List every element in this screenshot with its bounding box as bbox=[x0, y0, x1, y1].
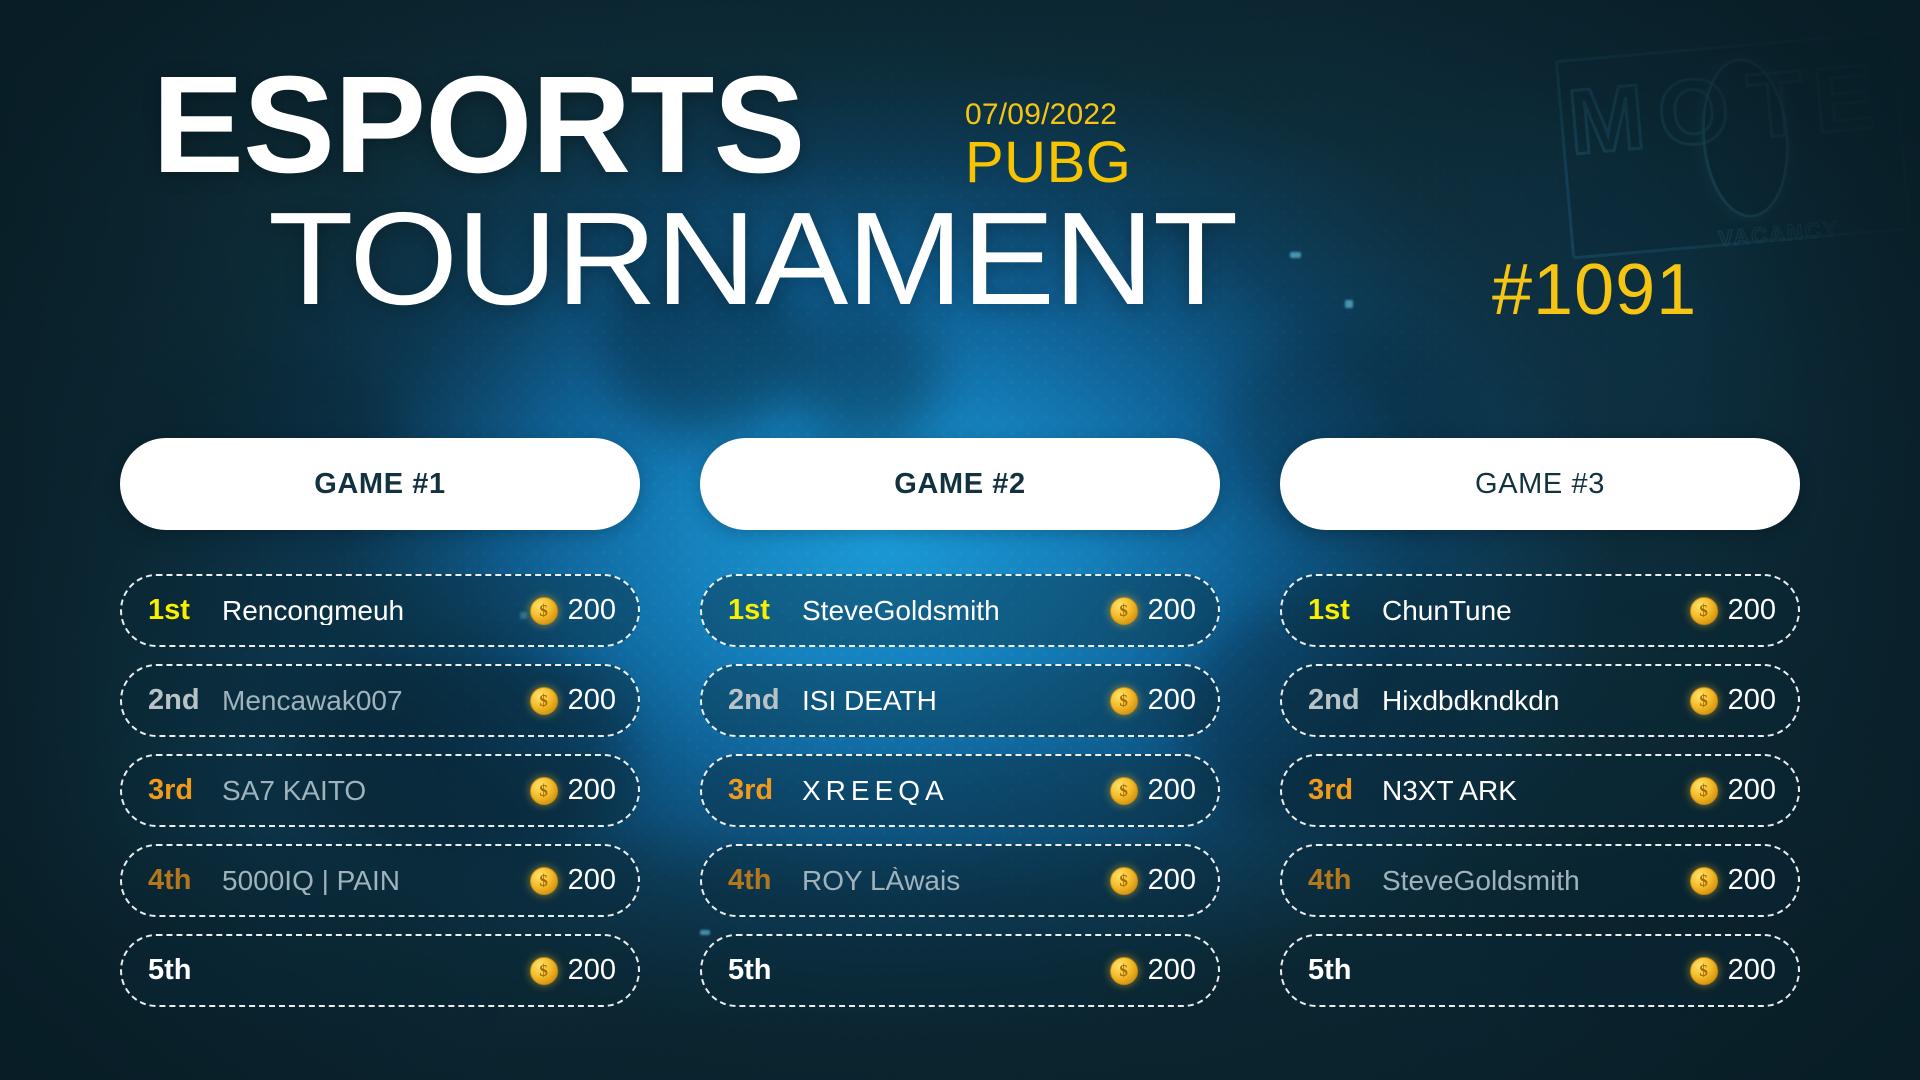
coin-icon: $ bbox=[1690, 777, 1718, 805]
leaderboard-column-3: GAME #31stChunTune$2002ndHixdbdkndkdn$20… bbox=[1280, 438, 1800, 1007]
leaderboard-rows: 1stRencongmeuh$2002ndMencawak007$2003rdS… bbox=[120, 574, 640, 1007]
prize-value: 200 bbox=[1728, 956, 1776, 985]
poster-header: ESPORTS TOURNAMENT 07/09/2022 PUBG #1091 bbox=[0, 0, 1920, 400]
coin-icon: $ bbox=[530, 597, 558, 625]
rank-label: 1st bbox=[1308, 596, 1370, 625]
prize-amount-group: $200 bbox=[1690, 776, 1776, 805]
leaderboard-row[interactable]: 1stRencongmeuh$200 bbox=[120, 574, 640, 647]
prize-amount-group: $200 bbox=[530, 776, 616, 805]
leaderboard-rows: 1stChunTune$2002ndHixdbdkndkdn$2003rdN3X… bbox=[1280, 574, 1800, 1007]
rank-label: 2nd bbox=[148, 686, 210, 715]
rank-label: 4th bbox=[728, 866, 790, 895]
leaderboard-row[interactable]: 5th$200 bbox=[1280, 934, 1800, 1007]
leaderboard-row[interactable]: 2ndISI DEATH$200 bbox=[700, 664, 1220, 737]
coin-icon: $ bbox=[1110, 597, 1138, 625]
leaderboard-column-2: GAME #21stSteveGoldsmith$2002ndISI DEATH… bbox=[700, 438, 1220, 1007]
player-name: N3XT ARK bbox=[1370, 777, 1690, 805]
prize-value: 200 bbox=[1728, 776, 1776, 805]
player-name: XREEQA bbox=[790, 777, 1110, 805]
prize-amount-group: $200 bbox=[1110, 686, 1196, 715]
prize-amount-group: $200 bbox=[1690, 956, 1776, 985]
prize-amount-group: $200 bbox=[530, 956, 616, 985]
rank-label: 3rd bbox=[148, 776, 210, 805]
coin-icon: $ bbox=[530, 867, 558, 895]
leaderboard-row[interactable]: 5th$200 bbox=[120, 934, 640, 1007]
coin-icon: $ bbox=[530, 777, 558, 805]
prize-amount-group: $200 bbox=[1110, 866, 1196, 895]
leaderboard-columns: GAME #11stRencongmeuh$2002ndMencawak007$… bbox=[0, 438, 1920, 1007]
rank-label: 2nd bbox=[1308, 686, 1370, 715]
leaderboard-row[interactable]: 5th$200 bbox=[700, 934, 1220, 1007]
leaderboard-row[interactable]: 4thROY LÀwais$200 bbox=[700, 844, 1220, 917]
prize-amount-group: $200 bbox=[1690, 686, 1776, 715]
prize-amount-group: $200 bbox=[1690, 596, 1776, 625]
leaderboard-row[interactable]: 1stSteveGoldsmith$200 bbox=[700, 574, 1220, 647]
coin-icon: $ bbox=[1110, 777, 1138, 805]
leaderboard-row[interactable]: 4thSteveGoldsmith$200 bbox=[1280, 844, 1800, 917]
prize-value: 200 bbox=[1148, 956, 1196, 985]
player-name: SteveGoldsmith bbox=[1370, 867, 1690, 895]
prize-value: 200 bbox=[568, 596, 616, 625]
coin-icon: $ bbox=[530, 957, 558, 985]
prize-value: 200 bbox=[568, 776, 616, 805]
player-name: 5000IQ | PAIN bbox=[210, 867, 530, 895]
page-title-primary: ESPORTS bbox=[152, 56, 804, 194]
prize-value: 200 bbox=[1728, 596, 1776, 625]
leaderboard-row[interactable]: 2ndHixdbdkndkdn$200 bbox=[1280, 664, 1800, 737]
prize-value: 200 bbox=[1148, 596, 1196, 625]
prize-amount-group: $200 bbox=[1690, 866, 1776, 895]
leaderboard-row[interactable]: 4th5000IQ | PAIN$200 bbox=[120, 844, 640, 917]
coin-icon: $ bbox=[1690, 597, 1718, 625]
rank-label: 2nd bbox=[728, 686, 790, 715]
leaderboard-rows: 1stSteveGoldsmith$2002ndISI DEATH$2003rd… bbox=[700, 574, 1220, 1007]
coin-icon: $ bbox=[1690, 687, 1718, 715]
prize-amount-group: $200 bbox=[530, 596, 616, 625]
coin-icon: $ bbox=[1690, 867, 1718, 895]
player-name: ROY LÀwais bbox=[790, 867, 1110, 895]
rank-label: 3rd bbox=[728, 776, 790, 805]
leaderboard-row[interactable]: 3rdSA7 KAITO$200 bbox=[120, 754, 640, 827]
prize-value: 200 bbox=[1148, 866, 1196, 895]
tournament-id-badge: #1091 bbox=[1492, 254, 1697, 326]
prize-value: 200 bbox=[568, 866, 616, 895]
player-name: SteveGoldsmith bbox=[790, 597, 1110, 625]
leaderboard-row[interactable]: 3rdN3XT ARK$200 bbox=[1280, 754, 1800, 827]
prize-value: 200 bbox=[568, 686, 616, 715]
event-date: 07/09/2022 bbox=[965, 100, 1131, 130]
rank-label: 5th bbox=[148, 956, 210, 985]
coin-icon: $ bbox=[1110, 957, 1138, 985]
prize-value: 200 bbox=[1148, 776, 1196, 805]
prize-value: 200 bbox=[568, 956, 616, 985]
rank-label: 5th bbox=[728, 956, 790, 985]
coin-icon: $ bbox=[1110, 687, 1138, 715]
coin-icon: $ bbox=[1690, 957, 1718, 985]
leaderboard-row[interactable]: 3rdXREEQA$200 bbox=[700, 754, 1220, 827]
rank-label: 1st bbox=[728, 596, 790, 625]
event-meta: 07/09/2022 PUBG bbox=[965, 100, 1131, 192]
prize-value: 200 bbox=[1728, 866, 1776, 895]
prize-value: 200 bbox=[1148, 686, 1196, 715]
game-header-pill-2[interactable]: GAME #2 bbox=[700, 438, 1220, 530]
player-name: Hixdbdkndkdn bbox=[1370, 687, 1690, 715]
player-name: SA7 KAITO bbox=[210, 777, 530, 805]
game-header-pill-1[interactable]: GAME #1 bbox=[120, 438, 640, 530]
player-name: Rencongmeuh bbox=[210, 597, 530, 625]
prize-amount-group: $200 bbox=[1110, 956, 1196, 985]
coin-icon: $ bbox=[1110, 867, 1138, 895]
leaderboard-row[interactable]: 2ndMencawak007$200 bbox=[120, 664, 640, 737]
player-name: ChunTune bbox=[1370, 597, 1690, 625]
leaderboard-row[interactable]: 1stChunTune$200 bbox=[1280, 574, 1800, 647]
prize-amount-group: $200 bbox=[1110, 776, 1196, 805]
page-title-secondary: TOURNAMENT bbox=[268, 193, 1237, 325]
player-name: Mencawak007 bbox=[210, 687, 530, 715]
prize-amount-group: $200 bbox=[1110, 596, 1196, 625]
game-title: PUBG bbox=[965, 134, 1131, 192]
rank-label: 3rd bbox=[1308, 776, 1370, 805]
leaderboard-column-1: GAME #11stRencongmeuh$2002ndMencawak007$… bbox=[120, 438, 640, 1007]
rank-label: 5th bbox=[1308, 956, 1370, 985]
prize-amount-group: $200 bbox=[530, 686, 616, 715]
prize-amount-group: $200 bbox=[530, 866, 616, 895]
rank-label: 4th bbox=[148, 866, 210, 895]
prize-value: 200 bbox=[1728, 686, 1776, 715]
rank-label: 4th bbox=[1308, 866, 1370, 895]
rank-label: 1st bbox=[148, 596, 210, 625]
player-name: ISI DEATH bbox=[790, 687, 1110, 715]
game-header-pill-3[interactable]: GAME #3 bbox=[1280, 438, 1800, 530]
tournament-poster: M O T E VACANCY ESPORTS TOURNAMENT 07/09… bbox=[0, 0, 1920, 1080]
coin-icon: $ bbox=[530, 687, 558, 715]
